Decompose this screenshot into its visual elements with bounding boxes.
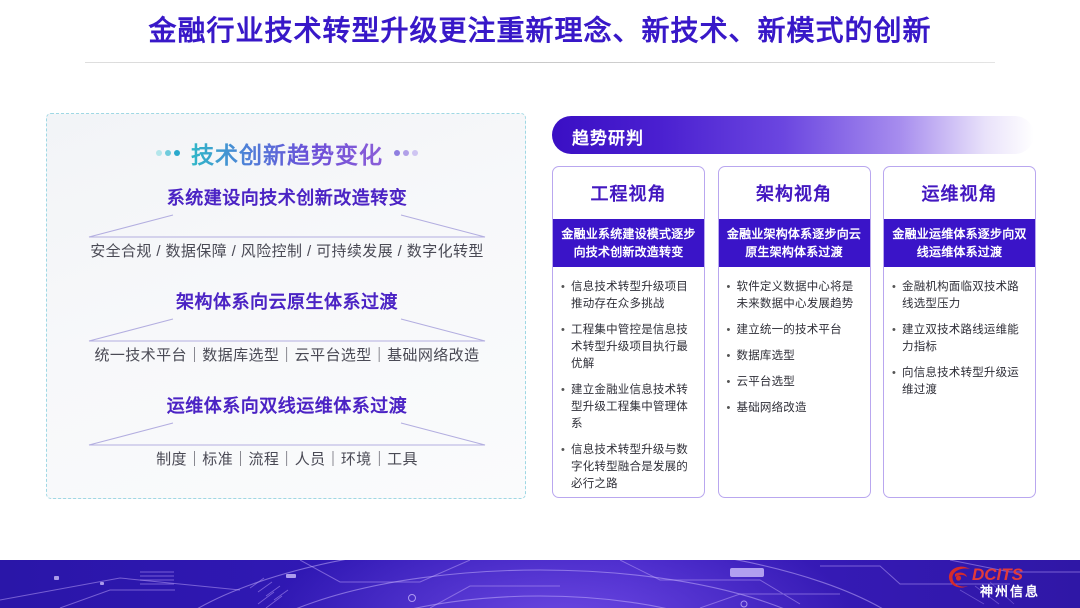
bullet-dot-icon: •	[892, 365, 902, 399]
card-2-title: 架构视角	[719, 167, 870, 219]
trend-judgement-label: 趋势研判	[572, 124, 644, 149]
list-item: • 建立双技术路线运维能力指标	[892, 322, 1027, 356]
card-1-body: • 信息技术转型升级项目推动存在众多挑战 • 工程集中管控是信息技术转型升级项目…	[553, 267, 704, 498]
list-item-text: 建立双技术路线运维能力指标	[902, 322, 1027, 356]
list-item: • 工程集中管控是信息技术转型升级项目执行最优解	[561, 322, 696, 373]
bullet-dot-icon: •	[727, 374, 737, 391]
card-2-body: • 软件定义数据中心将是未来数据中心发展趋势 • 建立统一的技术平台 • 数据库…	[719, 267, 870, 434]
funnel-shape-3-icon	[77, 421, 497, 447]
list-item-text: 软件定义数据中心将是未来数据中心发展趋势	[737, 279, 862, 313]
list-item: • 软件定义数据中心将是未来数据中心发展趋势	[727, 279, 862, 313]
tier-2-heading: 架构体系向云原生体系过渡	[47, 290, 527, 314]
tier-2-items: 统一技术平台｜数据库选型｜云平台选型｜基础网络改造	[47, 345, 527, 367]
list-item-text: 建立金融业信息技术转型升级工程集中管理体系	[571, 382, 696, 433]
list-item-text: 信息技术转型升级与数字化转型融合是发展的必行之路	[571, 442, 696, 493]
footer-band: DCITS 神州信息	[0, 560, 1080, 608]
bullet-dot-icon: •	[727, 348, 737, 365]
bullet-dot-icon: •	[892, 322, 902, 356]
list-item-text: 信息技术转型升级项目推动存在众多挑战	[571, 279, 696, 313]
logo-wordmark: DCITS	[972, 566, 1023, 584]
page-title: 金融行业技术转型升级更注重新理念、新技术、新模式的创新	[0, 14, 1080, 48]
list-item-text: 建立统一的技术平台	[737, 322, 862, 339]
list-item-text: 金融机构面临双技术路线选型压力	[902, 279, 1027, 313]
list-item: • 向信息技术转型升级运维过渡	[892, 365, 1027, 399]
decorative-dots-right-icon	[394, 150, 418, 156]
list-item-text: 基础网络改造	[737, 400, 862, 417]
card-architecture-view[interactable]: 架构视角 金融业架构体系逐步向云原生架构体系过渡 • 软件定义数据中心将是未来数…	[718, 166, 871, 498]
funnel-shape-2-icon	[77, 317, 497, 343]
list-item-text: 工程集中管控是信息技术转型升级项目执行最优解	[571, 322, 696, 373]
decorative-dots-left-icon	[156, 150, 180, 156]
list-item-text: 数据库选型	[737, 348, 862, 365]
bullet-dot-icon: •	[727, 322, 737, 339]
company-logo: DCITS 神州信息	[946, 565, 1064, 605]
card-3-banner: 金融业运维体系逐步向双线运维体系过渡	[884, 219, 1035, 267]
dcits-swirl-icon	[946, 565, 974, 591]
list-item: • 建立金融业信息技术转型升级工程集中管理体系	[561, 382, 696, 433]
bullet-dot-icon: •	[561, 382, 571, 433]
list-item: • 信息技术转型升级与数字化转型融合是发展的必行之路	[561, 442, 696, 493]
card-operations-view[interactable]: 运维视角 金融业运维体系逐步向双线运维体系过渡 • 金融机构面临双技术路线选型压…	[883, 166, 1036, 498]
trend-change-panel: 技术创新趋势变化 系统建设向技术创新改造转变 安全合规 / 数据保障 / 风险控…	[46, 113, 526, 499]
bullet-dot-icon: •	[561, 322, 571, 373]
slide-title-area: 金融行业技术转型升级更注重新理念、新技术、新模式的创新	[0, 14, 1080, 48]
list-item: • 建立统一的技术平台	[727, 322, 862, 339]
list-item: • 数据库选型	[727, 348, 862, 365]
tier-3: 运维体系向双线运维体系过渡 制度｜标准｜流程｜人员｜环境｜工具	[47, 394, 527, 471]
tier-3-heading: 运维体系向双线运维体系过渡	[47, 394, 527, 418]
list-item: • 基础网络改造	[727, 400, 862, 417]
bullet-dot-icon: •	[561, 279, 571, 313]
list-item: • 云平台选型	[727, 374, 862, 391]
funnel-shape-1-icon	[77, 213, 497, 239]
slide-root: 金融行业技术转型升级更注重新理念、新技术、新模式的创新 技术创新趋势变化 系统建…	[0, 0, 1080, 608]
card-1-title: 工程视角	[553, 167, 704, 219]
bullet-dot-icon: •	[727, 279, 737, 313]
bullet-dot-icon: •	[727, 400, 737, 417]
card-3-title: 运维视角	[884, 167, 1035, 219]
card-2-banner: 金融业架构体系逐步向云原生架构体系过渡	[719, 219, 870, 267]
title-divider	[85, 62, 995, 63]
tier-3-items: 制度｜标准｜流程｜人员｜环境｜工具	[47, 449, 527, 471]
list-item-text: 向信息技术转型升级运维过渡	[902, 365, 1027, 399]
circuit-pattern-icon	[0, 560, 1080, 608]
card-engineering-view[interactable]: 工程视角 金融业系统建设模式逐步向技术创新改造转变 • 信息技术转型升级项目推动…	[552, 166, 705, 498]
list-item: • 金融机构面临双技术路线选型压力	[892, 279, 1027, 313]
left-panel-heading: 技术创新趋势变化	[47, 136, 527, 170]
tier-2: 架构体系向云原生体系过渡 统一技术平台｜数据库选型｜云平台选型｜基础网络改造	[47, 290, 527, 367]
bullet-dot-icon: •	[892, 279, 902, 313]
left-panel-heading-text: 技术创新趋势变化	[191, 136, 383, 170]
bullet-dot-icon: •	[561, 442, 571, 493]
card-1-banner: 金融业系统建设模式逐步向技术创新改造转变	[553, 219, 704, 267]
list-item-text: 云平台选型	[737, 374, 862, 391]
logo-chinese-name: 神州信息	[980, 584, 1040, 599]
tier-1-heading: 系统建设向技术创新改造转变	[47, 186, 527, 210]
tier-1: 系统建设向技术创新改造转变 安全合规 / 数据保障 / 风险控制 / 可持续发展…	[47, 186, 527, 263]
viewpoint-card-list: 工程视角 金融业系统建设模式逐步向技术创新改造转变 • 信息技术转型升级项目推动…	[552, 166, 1036, 498]
list-item: • 信息技术转型升级项目推动存在众多挑战	[561, 279, 696, 313]
trend-judgement-header: 趋势研判	[552, 116, 1034, 154]
card-3-body: • 金融机构面临双技术路线选型压力 • 建立双技术路线运维能力指标 • 向信息技…	[884, 267, 1035, 416]
tier-1-items: 安全合规 / 数据保障 / 风险控制 / 可持续发展 / 数字化转型	[47, 241, 527, 263]
